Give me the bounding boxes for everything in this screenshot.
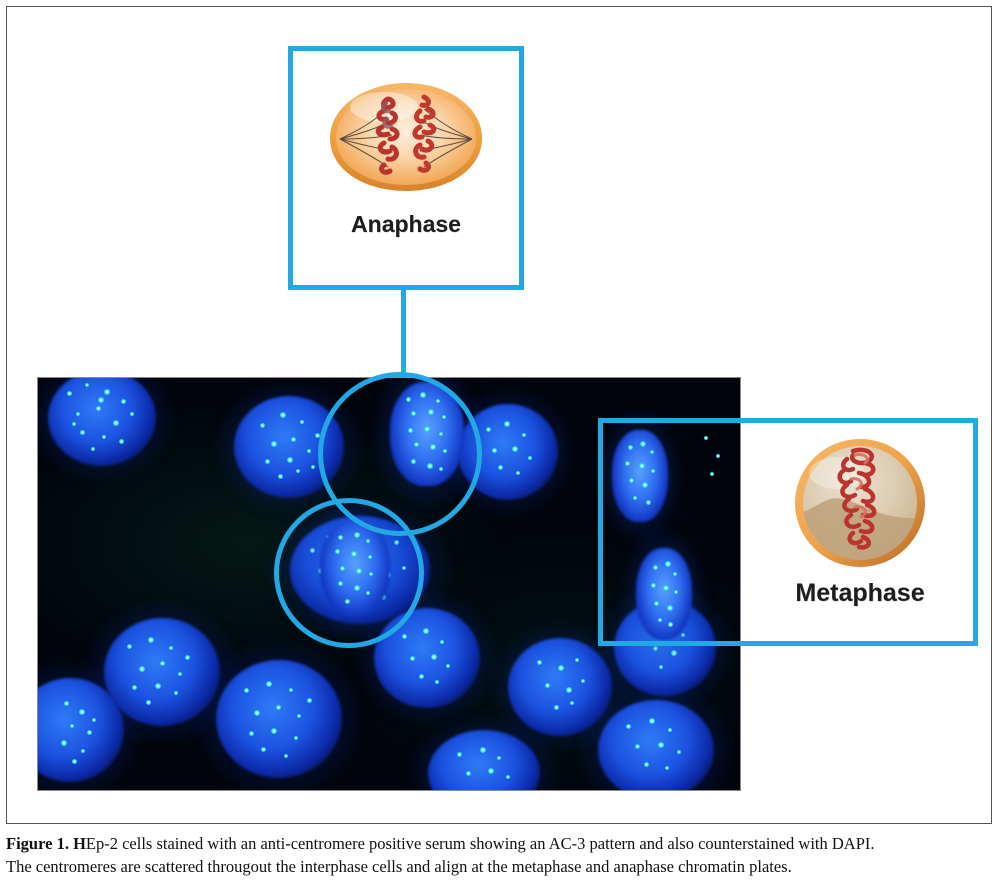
connector-line-anaphase	[401, 288, 406, 378]
interphase-nucleus	[598, 700, 714, 790]
interphase-nucleus	[428, 730, 540, 790]
figure-caption-line-1: Ep-2 cells stained with an anti-centrome…	[86, 834, 875, 853]
interphase-nucleus	[38, 678, 124, 782]
anaphase-label: Anaphase	[351, 211, 461, 238]
interphase-nucleus	[216, 660, 342, 778]
figure-caption-lead: Figure 1. H	[6, 834, 86, 853]
callout-circle-metaphase[interactable]	[274, 498, 424, 648]
metaphase-label: Metaphase	[795, 579, 924, 608]
anaphase-cell-diagram	[326, 79, 486, 195]
anaphase-callout-box[interactable]: Anaphase	[288, 46, 524, 290]
figure-caption: Figure 1. HEp-2 cells stained with an an…	[6, 832, 996, 879]
figure-root: Interphase cells	[0, 0, 1000, 888]
metaphase-callout-box[interactable]: Metaphase	[598, 418, 978, 646]
metaphase-cell-diagram	[791, 437, 929, 569]
interphase-nucleus	[48, 378, 156, 466]
figure-caption-line-2: The centromeres are scattered througout …	[6, 855, 996, 878]
